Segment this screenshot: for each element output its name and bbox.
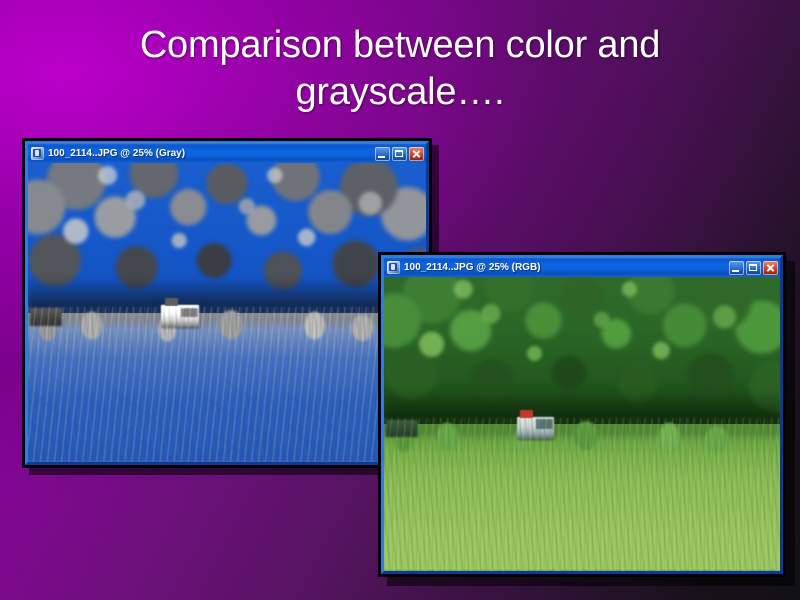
window-controls-gray	[375, 147, 424, 161]
maximize-icon[interactable]	[746, 261, 761, 275]
grass-stems	[28, 324, 426, 462]
truck-red-load	[520, 410, 533, 418]
window-frame-gray: 100_2114..JPG @ 25% (Gray)	[25, 141, 429, 465]
photoshop-document-icon	[387, 261, 400, 274]
presentation-slide: Comparison between color and grayscale….…	[0, 0, 800, 600]
photoshop-document-icon	[31, 147, 44, 160]
image-window-gray[interactable]: 100_2114..JPG @ 25% (Gray)	[22, 138, 432, 468]
window-title-rgb: 100_2114..JPG @ 25% (RGB)	[404, 262, 729, 274]
titlebar-gray[interactable]: 100_2114..JPG @ 25% (Gray)	[28, 144, 426, 163]
grass-stems	[384, 436, 780, 571]
titlebar-rgb[interactable]: 100_2114..JPG @ 25% (RGB)	[384, 258, 780, 277]
photo-color	[384, 277, 780, 571]
truck-red-load	[165, 298, 179, 306]
close-icon[interactable]	[409, 147, 424, 161]
window-frame-rgb: 100_2114..JPG @ 25% (RGB)	[381, 255, 783, 574]
page-title: Comparison between color and grayscale….	[54, 22, 746, 116]
minimize-icon[interactable]	[375, 147, 390, 161]
minimize-icon[interactable]	[729, 261, 744, 275]
photo-grayscale	[28, 163, 426, 462]
window-title-gray: 100_2114..JPG @ 25% (Gray)	[48, 148, 375, 160]
image-window-rgb[interactable]: 100_2114..JPG @ 25% (RGB)	[378, 252, 786, 577]
close-icon[interactable]	[763, 261, 778, 275]
image-canvas-rgb[interactable]	[384, 277, 780, 571]
window-controls-rgb	[729, 261, 778, 275]
maximize-icon[interactable]	[392, 147, 407, 161]
image-canvas-gray[interactable]	[28, 163, 426, 462]
